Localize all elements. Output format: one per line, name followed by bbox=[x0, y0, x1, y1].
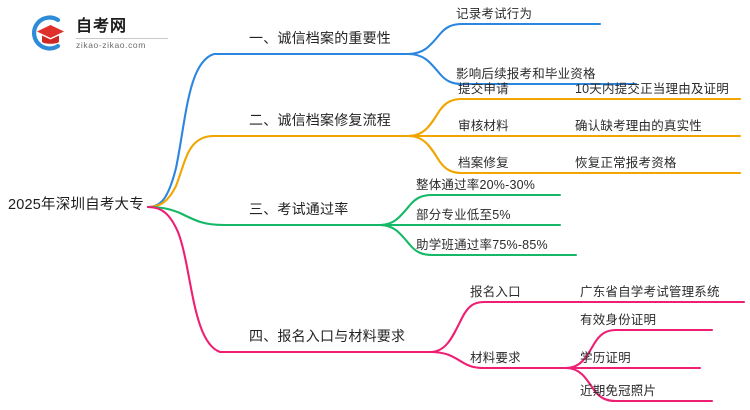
child-node-4-1[interactable]: 报名入口 bbox=[470, 285, 521, 300]
leaf-node-2-3-1[interactable]: 恢复正常报考资格 bbox=[575, 156, 677, 171]
child-node-1-1[interactable]: 记录考试行为 bbox=[456, 7, 532, 22]
leaf-node-2-1-1[interactable]: 10天内提交正当理由及证明 bbox=[575, 82, 729, 97]
leaf-node-4-2-1[interactable]: 有效身份证明 bbox=[580, 313, 656, 328]
branch-node-1[interactable]: 一、诚信档案的重要性 bbox=[249, 31, 391, 46]
child-node-2-3[interactable]: 档案修复 bbox=[458, 156, 509, 171]
leaf-node-4-1-1[interactable]: 广东省自学考试管理系统 bbox=[580, 285, 720, 300]
edge-group-branch-4 bbox=[148, 207, 744, 401]
leaf-node-4-2-3[interactable]: 近期免冠照片 bbox=[580, 384, 656, 399]
branch-node-3[interactable]: 三、考试通过率 bbox=[249, 202, 348, 217]
logo-text: 自考网 zikao-zikao.com bbox=[76, 16, 168, 50]
child-node-4-2[interactable]: 材料要求 bbox=[470, 351, 521, 366]
child-node-2-1[interactable]: 提交申请 bbox=[458, 82, 509, 97]
child-node-3-2[interactable]: 部分专业低至5% bbox=[416, 208, 511, 223]
branch-node-4[interactable]: 四、报名入口与材料要求 bbox=[249, 329, 405, 344]
logo-title: 自考网 bbox=[76, 18, 168, 36]
branch-node-2[interactable]: 二、诚信档案修复流程 bbox=[249, 113, 391, 128]
child-node-1-2[interactable]: 影响后续报考和毕业资格 bbox=[456, 67, 596, 82]
mindmap-root-node[interactable]: 2025年深圳自考大专 bbox=[8, 198, 144, 213]
child-node-3-1[interactable]: 整体通过率20%-30% bbox=[416, 178, 535, 193]
logo-domain: zikao-zikao.com bbox=[76, 40, 168, 50]
logo-divider bbox=[76, 38, 168, 39]
graduation-cap-icon bbox=[28, 13, 70, 53]
mindmap-canvas: 自考网 zikao-zikao.com bbox=[0, 0, 750, 410]
child-node-2-2[interactable]: 审核材料 bbox=[458, 119, 509, 134]
edge-group-branch-1 bbox=[148, 24, 636, 207]
child-node-3-3[interactable]: 助学班通过率75%-85% bbox=[416, 238, 548, 253]
leaf-node-2-2-1[interactable]: 确认缺考理由的真实性 bbox=[575, 119, 702, 134]
site-logo[interactable]: 自考网 zikao-zikao.com bbox=[28, 12, 178, 54]
leaf-node-4-2-2[interactable]: 学历证明 bbox=[580, 351, 631, 366]
